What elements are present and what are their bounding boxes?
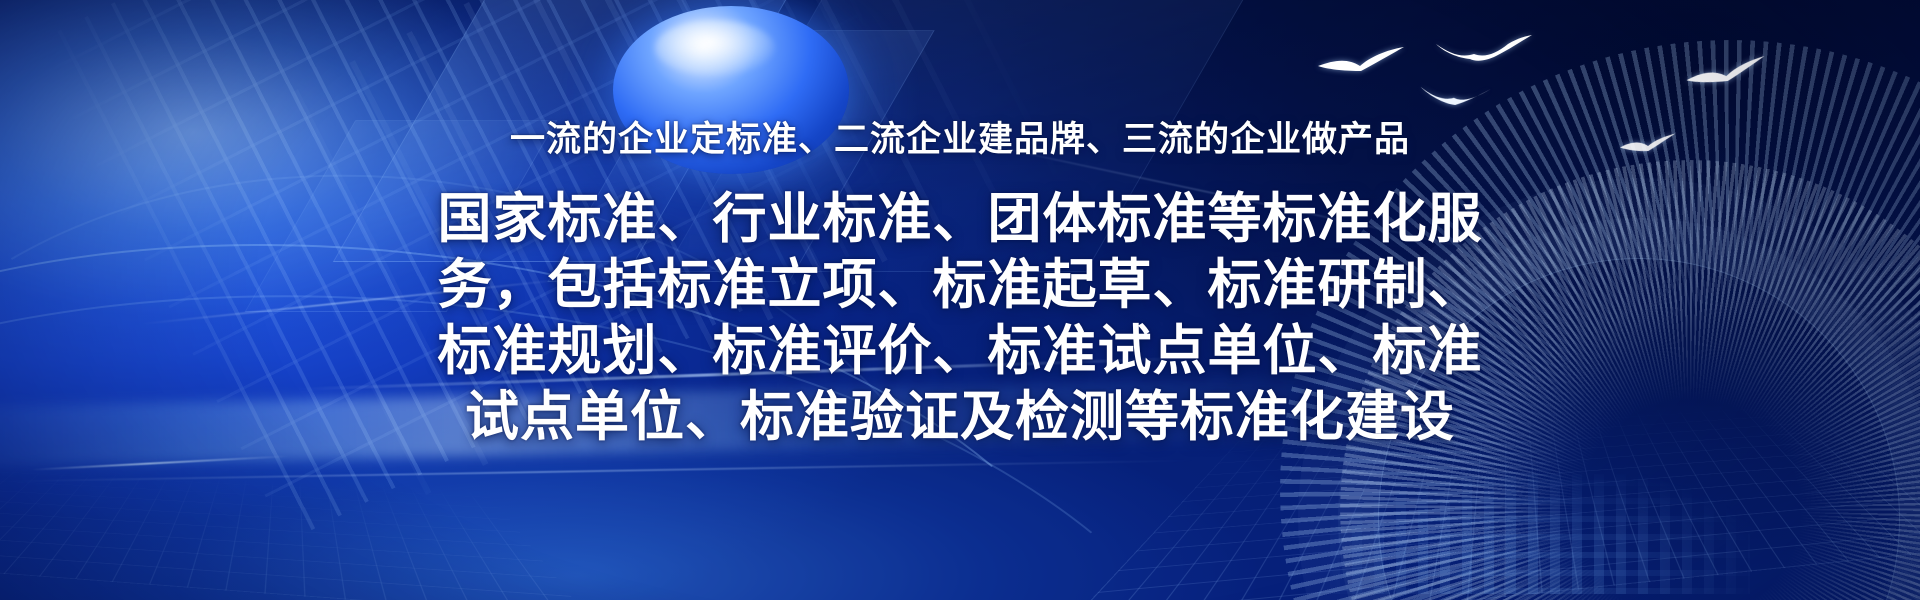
banner-body-line: 务，包括标准立项、标准起草、标准研制、 [0,252,1920,318]
banner-body-line: 试点单位、标准验证及检测等标准化建设 [0,384,1920,450]
banner-body: 国家标准、行业标准、团体标准等标准化服 务，包括标准立项、标准起草、标准研制、 … [0,186,1920,450]
hero-banner: 一流的企业定标准、二流企业建品牌、三流的企业做产品 国家标准、行业标准、团体标准… [0,0,1920,600]
banner-body-line: 标准规划、标准评价、标准试点单位、标准 [0,318,1920,384]
banner-body-line: 国家标准、行业标准、团体标准等标准化服 [0,186,1920,252]
banner-headline: 一流的企业定标准、二流企业建品牌、三流的企业做产品 [0,118,1920,162]
banner-text-stack: 一流的企业定标准、二流企业建品牌、三流的企业做产品 国家标准、行业标准、团体标准… [0,0,1920,450]
